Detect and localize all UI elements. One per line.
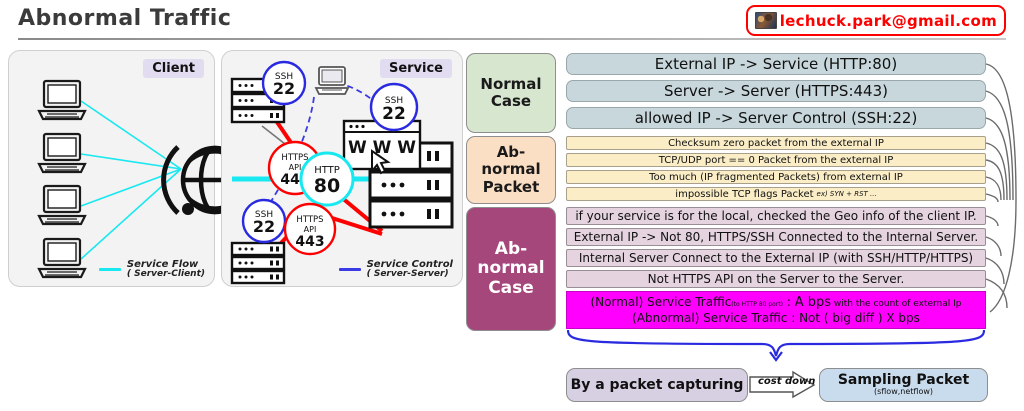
case-matrix: NormalCase Ab-normalPacket Ab-normalCase… [466,50,1018,408]
email-address: lechuck.park@gmail.com [780,12,997,30]
case-row[interactable]: Internal Server Connect to the External … [566,249,986,267]
traffic-normal-sub: (to HTTP 80 port) [731,301,783,308]
svg-text:API: API [289,163,302,172]
service-control-swatch [339,268,361,271]
port-node-http-80: HTTP 80 [301,153,353,205]
packet-row-subtext: ex) SYN + RST ... [817,190,877,198]
packet-row[interactable]: TCP/UDP port == 0 Packet from the extern… [566,153,986,167]
case-row[interactable]: Not HTTPS API on the Server to the Serve… [566,270,986,288]
user-photo-icon [755,12,777,29]
svg-text:HTTPS: HTTPS [281,153,308,163]
category-abnormal-case: Ab-normalCase [466,207,556,331]
svg-text:22: 22 [382,104,406,124]
blue-brace [562,328,992,364]
laptop-icon [316,67,348,94]
svg-text:22: 22 [253,217,275,236]
port-node-ssh-22-right: SSH 22 [371,84,417,130]
service-panel: Service [221,50,463,287]
email-badge: lechuck.park@gmail.com [746,5,1006,36]
traffic-row[interactable]: (Normal) Service Traffic(to HTTP 80 port… [566,291,986,329]
packet-capturing-button[interactable]: By a packet capturing [566,368,748,402]
service-flow-swatch [99,268,121,271]
traffic-abnormal-line: (Abnormal) Service Traffic : Not ( big d… [632,311,920,325]
sampling-packet-button[interactable]: Sampling Packet (sflow,netflow) [819,368,988,402]
service-legend: Service Control ( Server-Server) [339,259,453,280]
packet-row-text: Checksum zero packet from the external I… [668,138,884,149]
packet-row-text: TCP/UDP port == 0 Packet from the extern… [659,155,894,166]
packet-row[interactable]: Too much (IP fragmented Packets) from ex… [566,170,986,184]
page-title: Abnormal Traffic [18,6,231,31]
case-row[interactable]: External IP -> Not 80, HTTPS/SSH Connect… [566,228,986,246]
port-node-https-443-bottom: HTTPS API 443 [285,204,335,254]
packet-row[interactable]: impossible TCP flags Packet ex) SYN + RS… [566,187,986,201]
category-normal-case: NormalCase [466,53,556,133]
svg-text:443: 443 [295,234,324,250]
service-flow-sublabel: ( Server-Client) [127,270,205,280]
traffic-normal-prefix: (Normal) Service Traffic [590,295,731,309]
convergence-brackets [976,50,1024,350]
service-diagram-art: W W W SSH 22 HTTPS API 443 SSH 22 HTTP [222,51,462,286]
packet-row[interactable]: Checksum zero packet from the external I… [566,136,986,150]
traffic-normal-line: (Normal) Service Traffic(to HTTP 80 port… [590,295,961,310]
browser-window-icon: W W W [344,121,420,173]
normal-row[interactable]: Server -> Server (HTTPS:443) [566,80,986,102]
port-node-ssh-22-top: SSH 22 [263,62,305,104]
normal-row[interactable]: External IP -> Service (HTTP:80) [566,53,986,75]
www-label: W W W [348,138,416,158]
sampling-packet-title: Sampling Packet [838,373,969,388]
traffic-normal-suffix: with the count of external Ip [831,299,962,309]
service-control-sublabel: ( Server-Server) [367,270,453,280]
sampling-packet-subtitle: (sflow,netflow) [874,388,933,397]
packet-row-text: Too much (IP fragmented Packets) from ex… [649,172,903,183]
normal-row[interactable]: allowed IP -> Server Control (SSH:22) [566,107,986,129]
traffic-normal-value: A bps [795,295,831,310]
svg-text:HTTPS: HTTPS [296,215,323,225]
header-divider [18,38,1006,40]
svg-text:API: API [304,225,317,234]
traffic-normal-mid: : [783,295,795,309]
packet-row-text: impossible TCP flags Packet [675,189,813,200]
cost-down-label: cost down [758,376,815,387]
client-legend: Service Flow ( Server-Client) [99,259,205,280]
case-row[interactable]: if your service is for the local, checke… [566,207,986,225]
port-node-ssh-22-bottom: SSH 22 [243,200,285,242]
laptop-icon [39,81,85,277]
svg-text:22: 22 [273,79,295,98]
category-abnormal-packet: Ab-normalPacket [466,136,556,204]
svg-text:80: 80 [314,175,340,197]
